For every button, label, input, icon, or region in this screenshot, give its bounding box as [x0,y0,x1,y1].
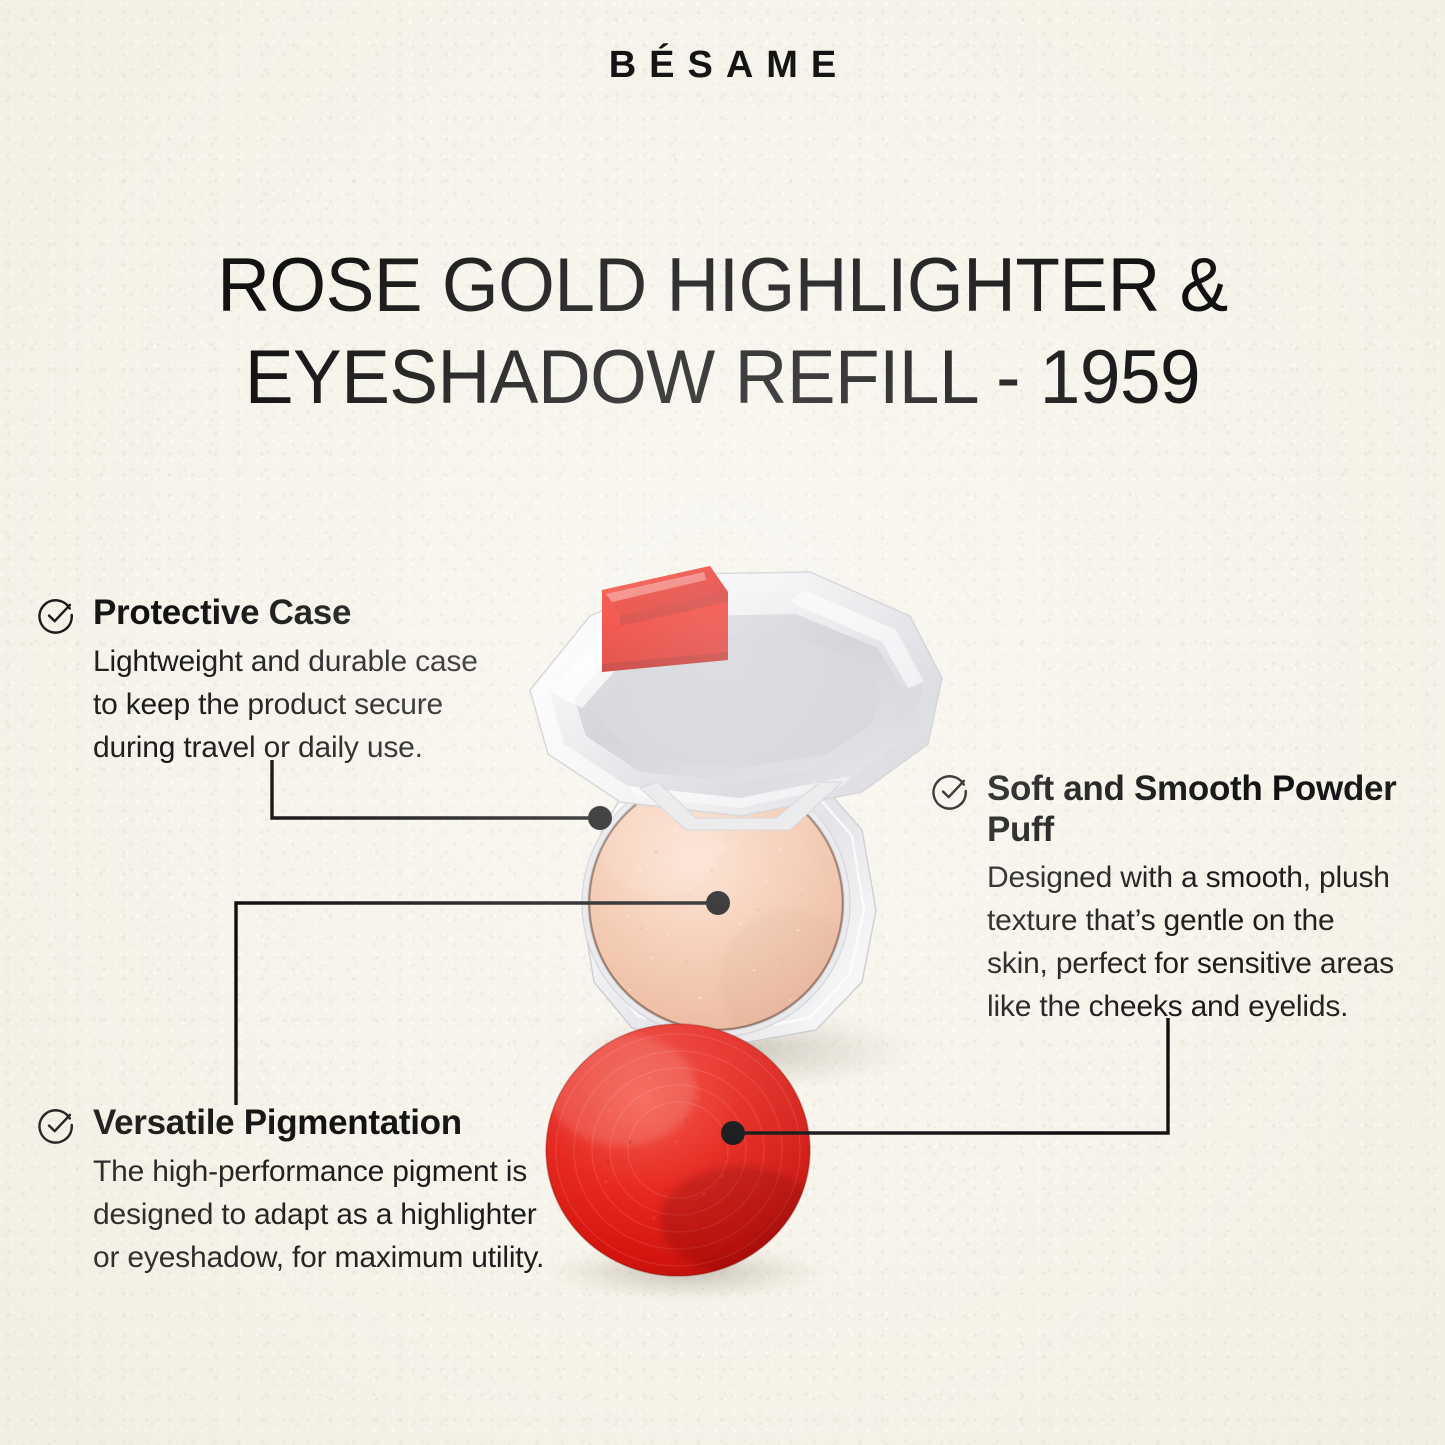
check-circle-icon [38,1106,76,1144]
feature-powder-puff: Soft and Smooth Powder Puff Designed wit… [932,768,1402,1028]
compact-lid [530,566,942,830]
feature-title: Protective Case [93,592,351,633]
feature-header: Versatile Pigmentation [38,1102,558,1144]
red-lid-tab [602,566,728,672]
feature-title: Versatile Pigmentation [93,1102,462,1143]
feature-header: Soft and Smooth Powder Puff [932,768,1402,850]
feature-body: The high-performance pigment is designed… [93,1150,558,1279]
feature-title: Soft and Smooth Powder Puff [987,768,1402,850]
feature-versatile-pigmentation: Versatile Pigmentation The high-performa… [38,1102,558,1279]
check-circle-icon [38,596,76,634]
page-title: ROSE GOLD HIGHLIGHTER & EYESHADOW REFILL… [87,240,1359,424]
brand-logo: BÉSAME [0,44,1445,87]
feature-header: Protective Case [38,592,508,634]
feature-body: Lightweight and durable case to keep the… [93,640,508,769]
feature-body: Designed with a smooth, plush texture th… [987,856,1402,1028]
infographic-canvas: BÉSAME ROSE GOLD HIGHLIGHTER & EYESHADOW… [0,0,1445,1445]
check-circle-icon [932,772,970,810]
feature-protective-case: Protective Case Lightweight and durable … [38,592,508,769]
product-image [490,530,960,1290]
